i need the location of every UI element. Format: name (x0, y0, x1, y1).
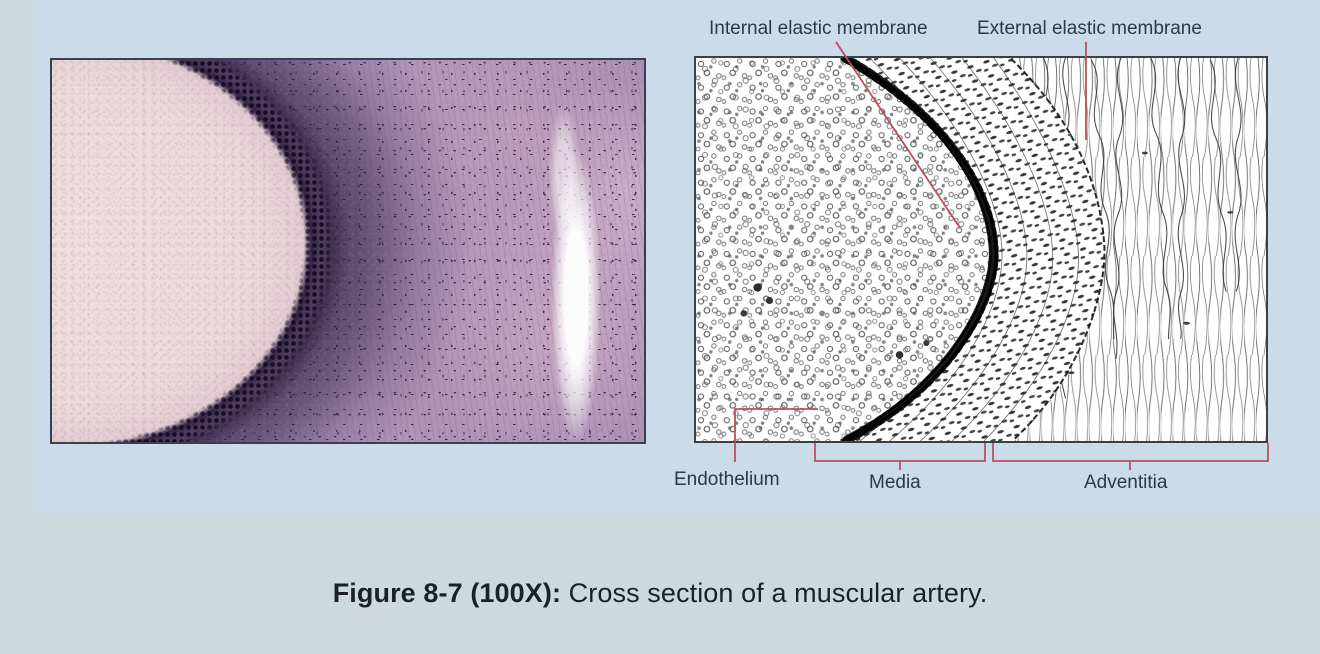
photomicrograph-panel (50, 58, 646, 444)
figure-container: Internal elastic membrane External elast… (0, 0, 1320, 654)
caption-text: Cross section of a muscular artery. (561, 578, 987, 608)
artery-wall-diagram (696, 58, 1266, 441)
label-internal-elastic-membrane: Internal elastic membrane (709, 19, 928, 38)
label-media: Media (869, 473, 921, 492)
label-endothelium: Endothelium (674, 470, 780, 489)
photo-separation-cleft (52, 60, 644, 442)
label-external-elastic-membrane: External elastic membrane (977, 19, 1202, 38)
figure-caption: Figure 8-7 (100X): Cross section of a mu… (0, 578, 1320, 609)
caption-prefix: Figure 8-7 (100X): (333, 578, 561, 608)
diagram-panel (694, 56, 1268, 443)
label-adventitia: Adventitia (1084, 473, 1167, 492)
